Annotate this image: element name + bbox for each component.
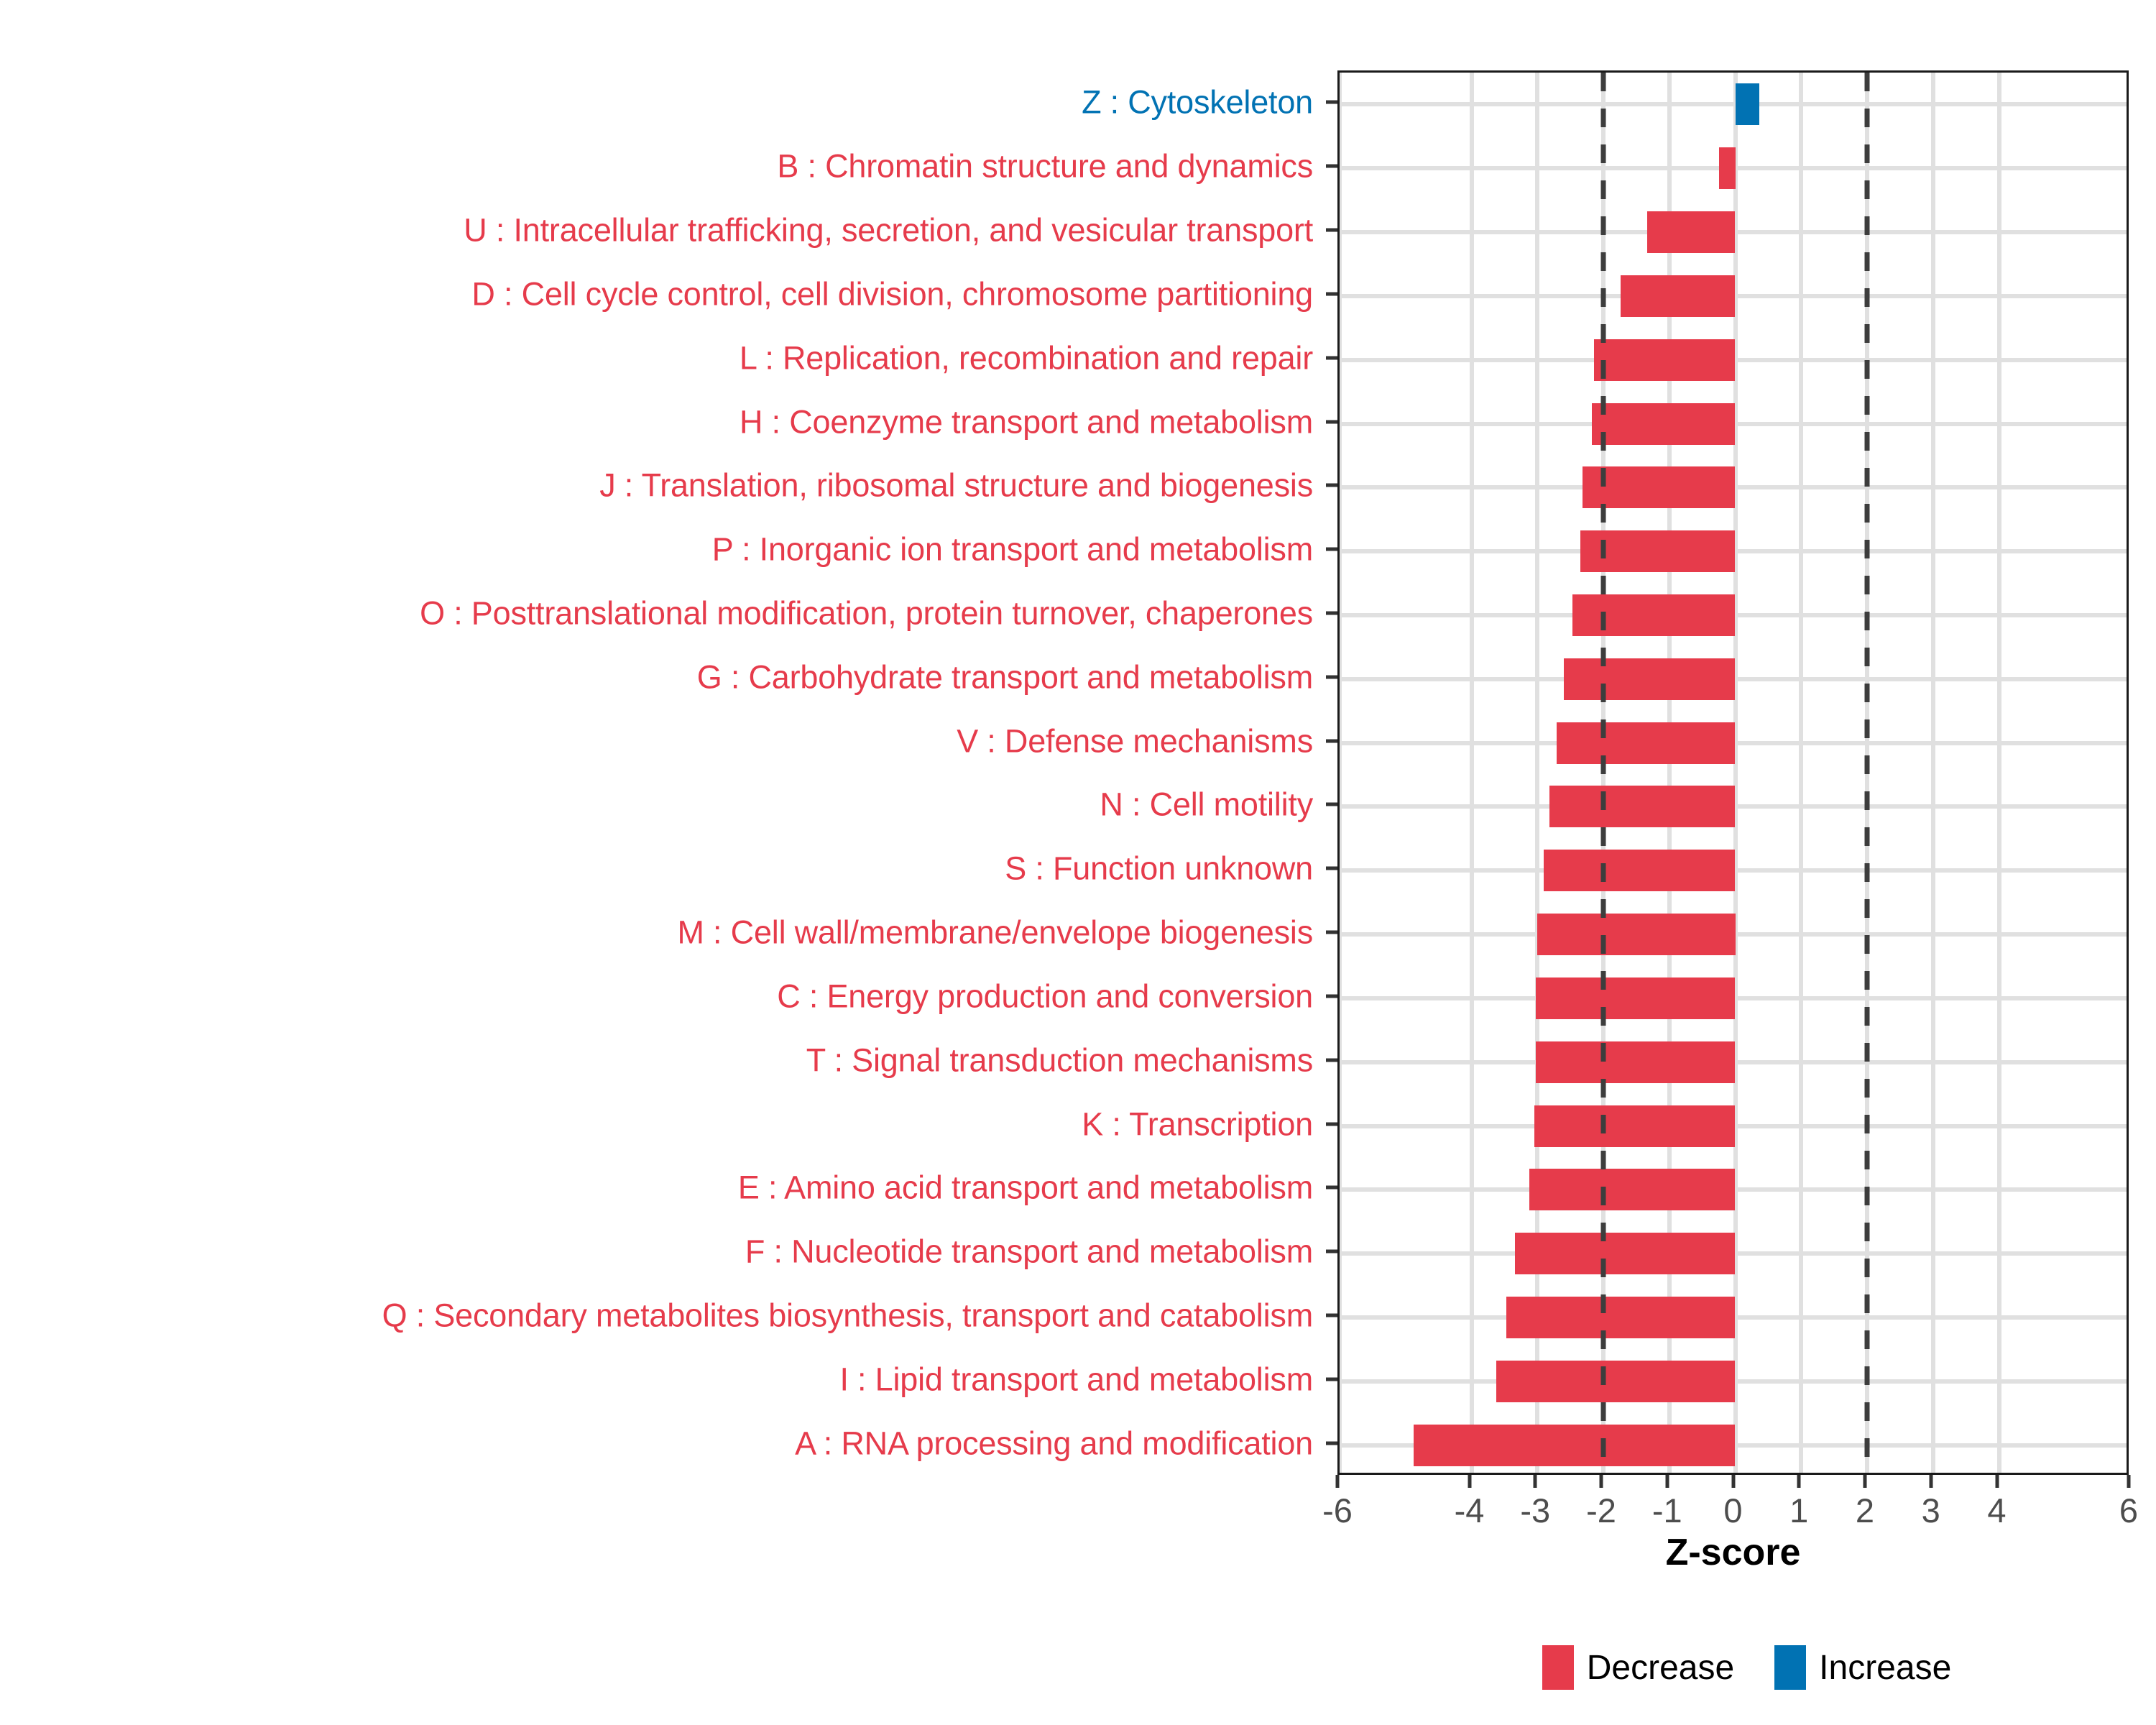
x-axis-tick-label: -2 [1586, 1491, 1616, 1530]
x-axis-tick-label: 2 [1856, 1491, 1874, 1530]
bar[interactable] [1557, 722, 1736, 764]
y-axis-tick-label: D : Cell cycle control, cell division, c… [471, 277, 1313, 310]
y-axis-tick-mark [1326, 1186, 1337, 1190]
x-gridline [1799, 73, 1803, 1473]
bar[interactable] [1414, 1425, 1736, 1466]
y-axis-tick-mark [1326, 739, 1337, 742]
y-axis-tick-label: B : Chromatin structure and dynamics [777, 150, 1313, 183]
y-axis-label-column: Z : CytoskeletonB : Chromatin structure … [0, 70, 1326, 1475]
y-axis-tick-mark [1326, 994, 1337, 998]
y-axis-tick-label: H : Coenzyme transport and metabolism [740, 405, 1313, 438]
y-axis-tick-label: C : Energy production and conversion [777, 980, 1313, 1012]
x-axis-tick-label: 3 [1922, 1491, 1940, 1530]
x-axis-tick-mark [1468, 1475, 1471, 1488]
y-axis-tick-mark [1326, 803, 1337, 806]
y-axis-tick-mark [1326, 420, 1337, 423]
y-axis-tick-mark [1326, 1122, 1337, 1126]
y-axis-tick-mark [1326, 867, 1337, 870]
y-axis-tick-mark [1326, 675, 1337, 678]
y-gridline [1340, 102, 2127, 106]
x-axis-tick-mark [1797, 1475, 1801, 1488]
x-axis-tick-label: 1 [1789, 1491, 1808, 1530]
bar[interactable] [1537, 914, 1735, 955]
x-gridline [1931, 73, 1935, 1473]
x-axis-tick-label: -1 [1652, 1491, 1682, 1530]
x-axis-title: Z-score [1337, 1531, 2129, 1574]
legend-swatch-decrease-icon [1542, 1645, 1574, 1690]
legend-item-decrease[interactable]: Decrease [1542, 1645, 1734, 1690]
y-axis-tick-mark [1326, 1441, 1337, 1445]
x-axis-tick-mark [1600, 1475, 1603, 1488]
bar[interactable] [1594, 339, 1735, 381]
bar[interactable] [1544, 850, 1736, 891]
legend: Decrease Increase [1337, 1639, 2156, 1696]
y-axis-tick-mark [1326, 611, 1337, 615]
y-axis-tick-label: O : Posttranslational modification, prot… [420, 597, 1313, 629]
y-axis-tick-label: Z : Cytoskeleton [1082, 86, 1313, 119]
y-axis-tick-label: Q : Secondary metabolites biosynthesis, … [382, 1299, 1313, 1331]
bar[interactable] [1534, 1105, 1736, 1147]
y-axis-tick-label: P : Inorganic ion transport and metaboli… [712, 533, 1313, 566]
x-axis-tick-mark [1534, 1475, 1537, 1488]
y-axis-tick-mark [1326, 165, 1337, 168]
bar[interactable] [1592, 403, 1735, 445]
bar[interactable] [1564, 658, 1736, 700]
bar[interactable] [1506, 1297, 1735, 1338]
x-gridline [1337, 73, 1342, 1473]
y-axis-tick-mark [1326, 1377, 1337, 1381]
y-axis-tick-label: G : Carbohydrate transport and metabolis… [697, 661, 1313, 693]
bar[interactable] [1736, 83, 1759, 125]
bar[interactable] [1529, 1169, 1735, 1210]
y-axis-tick-mark [1326, 484, 1337, 487]
zscore-bar-chart-figure: Z : CytoskeletonB : Chromatin structure … [0, 0, 2156, 1725]
legend-item-increase[interactable]: Increase [1774, 1645, 1951, 1690]
y-axis-tick-label: F : Nucleotide transport and metabolism [745, 1236, 1313, 1268]
x-axis-tick-label: -6 [1322, 1491, 1353, 1530]
bar[interactable] [1719, 147, 1736, 189]
bar[interactable] [1536, 1041, 1735, 1083]
reference-line [1601, 73, 1606, 1473]
bar[interactable] [1515, 1233, 1735, 1274]
x-axis-tick-label: 6 [2119, 1491, 2138, 1530]
y-axis-tick-label: S : Function unknown [1005, 852, 1313, 885]
y-axis-tick-mark [1326, 931, 1337, 934]
x-axis-tick-label: 0 [1723, 1491, 1742, 1530]
x-axis-tick-label: 4 [1987, 1491, 2006, 1530]
reference-line [1865, 73, 1870, 1473]
x-axis-tick-mark [2127, 1475, 2131, 1488]
x-axis-tick-mark [1929, 1475, 1932, 1488]
y-axis-tick-mark [1326, 1313, 1337, 1317]
x-axis-tick-label: -3 [1520, 1491, 1550, 1530]
y-axis-tick-label: T : Signal transduction mechanisms [806, 1044, 1313, 1076]
plot-panel [1337, 70, 2129, 1475]
y-axis-tick-label: L : Replication, recombination and repai… [740, 341, 1313, 374]
bar[interactable] [1572, 594, 1736, 636]
y-axis-tick-mark [1326, 229, 1337, 232]
y-axis-tick-label: M : Cell wall/membrane/envelope biogenes… [677, 916, 1313, 949]
y-axis-tick-mark [1326, 101, 1337, 104]
x-axis-tick-mark [1995, 1475, 1999, 1488]
x-axis-tick-mark [1864, 1475, 1867, 1488]
legend-label-increase: Increase [1819, 1648, 1951, 1688]
bar[interactable] [1647, 211, 1736, 253]
bar[interactable] [1621, 275, 1736, 317]
y-axis-tick-label: J : Translation, ribosomal structure and… [599, 469, 1313, 502]
x-axis-tick-mark [1665, 1475, 1669, 1488]
y-axis-tick-label: A : RNA processing and modification [795, 1427, 1313, 1459]
legend-swatch-increase-icon [1774, 1645, 1806, 1690]
y-axis-tick-label: K : Transcription [1082, 1108, 1313, 1140]
x-gridline [1470, 73, 1474, 1473]
y-axis-tick-mark [1326, 1058, 1337, 1062]
y-axis-tick-label: E : Amino acid transport and metabolism [738, 1172, 1313, 1204]
y-axis-tick-mark [1326, 548, 1337, 551]
y-axis-tick-label: I : Lipid transport and metabolism [839, 1363, 1313, 1395]
x-axis-tick-mark [1336, 1475, 1340, 1488]
y-axis-tick-label: V : Defense mechanisms [957, 724, 1313, 757]
y-axis-tick-mark [1326, 292, 1337, 295]
legend-label-decrease: Decrease [1587, 1648, 1734, 1688]
y-axis-tick-label: N : Cell motility [1100, 788, 1313, 821]
bar[interactable] [1496, 1361, 1735, 1402]
y-axis-tick-label: U : Intracellular trafficking, secretion… [464, 214, 1313, 247]
y-axis-tick-mark [1326, 356, 1337, 359]
y-axis-tick-mark [1326, 1250, 1337, 1253]
bar[interactable] [1549, 786, 1736, 827]
x-axis-tick-mark [1731, 1475, 1735, 1488]
bar[interactable] [1536, 977, 1735, 1019]
x-gridline [1997, 73, 2001, 1473]
x-axis-tick-label: -4 [1455, 1491, 1485, 1530]
